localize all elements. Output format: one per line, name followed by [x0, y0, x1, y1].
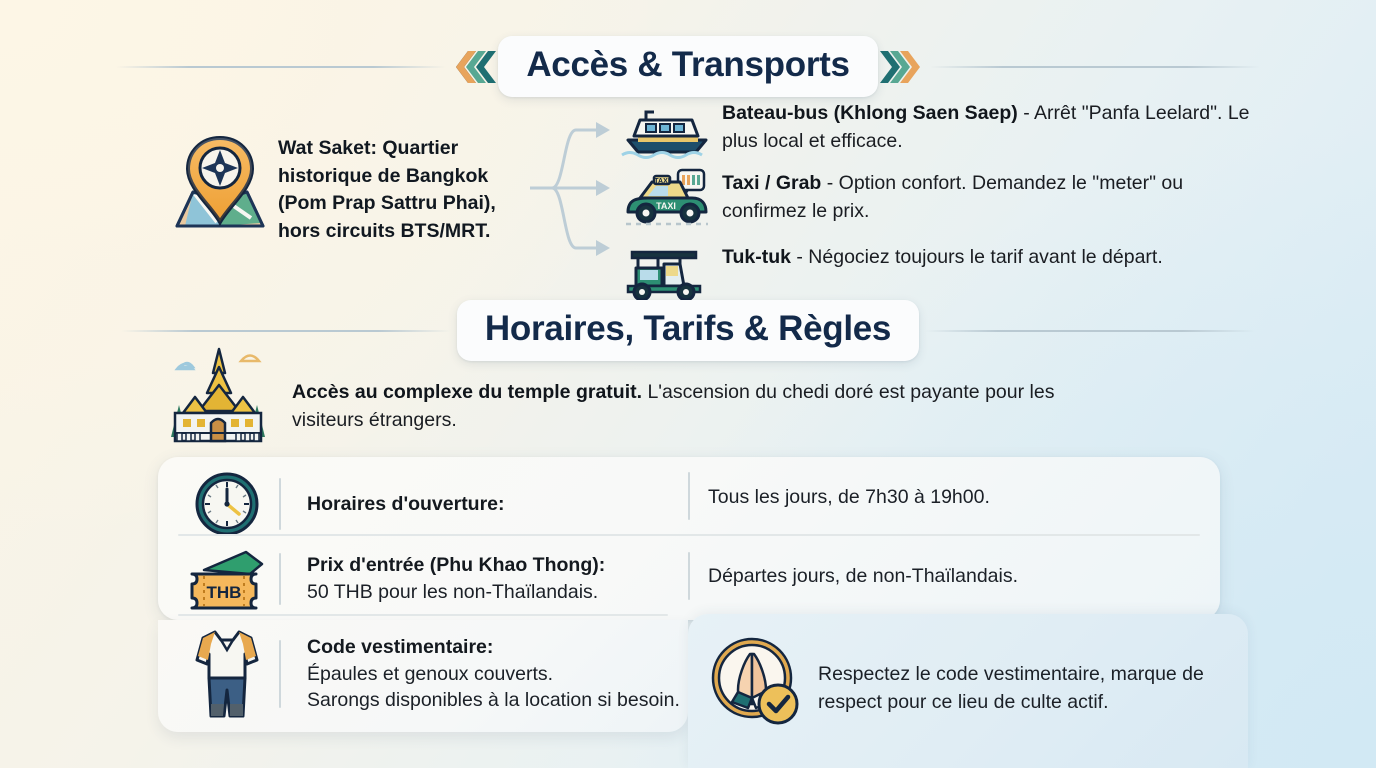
clothing-icon: [175, 626, 279, 722]
info-row-price-value: Départes jours, de non-Thaïlandais.: [708, 563, 1018, 590]
tuktuk-icon: [612, 242, 722, 302]
info-row-hours-label: Horaires d'ouverture:: [307, 491, 505, 518]
row-divider-vertical-2: [279, 553, 281, 605]
section-title-transports-label: Accès & Transports: [526, 45, 849, 84]
section-title-rules-label: Horaires, Tarifs & Règles: [485, 309, 891, 348]
transport-option-tuktuk: Tuk-tuk - Négociez toujours le tarif ava…: [612, 242, 1272, 302]
ticket-icon-label: THB: [207, 583, 242, 602]
chevron-right-decor-icon: [878, 47, 924, 87]
location-description: Wat Saket: Quartier historique de Bangko…: [278, 135, 528, 246]
info-row-dresscode-label-text: Code vestimentaire:: [307, 636, 493, 658]
transport-option-taxi: TAXI TAXI Taxi / Grab - Option confort. …: [612, 168, 1272, 228]
info-row-hours-value: Tous les jours, de 7h30 à 19h00.: [708, 484, 990, 511]
transport-option-tuktuk-text: Tuk-tuk - Négociez toujours le tarif ava…: [722, 242, 1163, 272]
info-row-price-sublabel: 50 THB pour les non-Thaïlandais.: [307, 581, 598, 603]
header-rule-left: [116, 66, 446, 68]
transport-option-boat-bold: Bateau-bus (Khlong Saen Saep): [722, 102, 1018, 124]
info-row-price: THB Prix d'entrée (Phu Khao Thong): 50 T…: [175, 548, 605, 610]
respect-note-text: Respectez le code vestimentaire, marque …: [818, 660, 1238, 717]
info-row-price-label-text: Prix d'entrée (Phu Khao Thong):: [307, 554, 605, 576]
info-row-dresscode-sublabel: Épaules et genoux couverts.: [307, 663, 553, 685]
info-row-dresscode-sublabel2: Sarongs disponibles à la location si bes…: [307, 689, 680, 711]
wai-hands-check-icon: [708, 634, 804, 735]
ticket-thb-icon: THB: [175, 548, 279, 610]
chevron-left-decor-icon: [452, 47, 498, 87]
temple-access-note-bold: Accès au complexe du temple gratuit.: [292, 381, 642, 403]
map-pin-compass-icon: [165, 130, 275, 245]
temple-icon: [155, 345, 280, 450]
transport-option-tuktuk-bold: Tuk-tuk: [722, 246, 791, 268]
temple-access-note: Accès au complexe du temple gratuit. L'a…: [292, 378, 1122, 435]
section-header-transports: Accès & Transports: [0, 36, 1376, 97]
transport-option-taxi-bold: Taxi / Grab: [722, 172, 821, 194]
boat-bus-icon: [612, 100, 722, 160]
svg-text:TAXI: TAXI: [656, 201, 676, 211]
header-rule-right: [930, 66, 1260, 68]
info-row-price-label: Prix d'entrée (Phu Khao Thong): 50 THB p…: [307, 552, 605, 606]
info-row-hours-label-text: Horaires d'ouverture:: [307, 493, 505, 515]
info-row-separator-2: [178, 614, 668, 616]
section-title-rules: Horaires, Tarifs & Règles: [457, 300, 919, 361]
transport-option-boat-text: Bateau-bus (Khlong Saen Saep) - Arrêt "P…: [722, 98, 1272, 155]
header-rule-left-2: [121, 330, 451, 332]
transport-option-taxi-text: Taxi / Grab - Option confort. Demandez l…: [722, 168, 1272, 225]
row-divider-center-2: [688, 552, 690, 600]
info-row-hours: Horaires d'ouverture:: [175, 470, 505, 538]
infographic-page: Accès & Transports: [0, 0, 1376, 768]
transport-option-boat: Bateau-bus (Khlong Saen Saep) - Arrêt "P…: [612, 100, 1272, 160]
header-rule-right-2: [925, 330, 1255, 332]
info-row-separator-1: [178, 534, 1200, 536]
row-divider-vertical-3: [279, 640, 281, 708]
svg-text:TAXI: TAXI: [654, 178, 669, 185]
taxi-icon: TAXI TAXI: [612, 168, 722, 228]
section-title-transports: Accès & Transports: [498, 36, 877, 97]
row-divider-vertical: [279, 478, 281, 530]
info-row-dresscode: Code vestimentaire: Épaules et genoux co…: [175, 626, 680, 722]
info-row-dresscode-label: Code vestimentaire: Épaules et genoux co…: [307, 634, 680, 715]
clock-icon: [175, 470, 279, 538]
row-divider-center-1: [688, 472, 690, 520]
transport-option-tuktuk-rest: - Négociez toujours le tarif avant le dé…: [791, 246, 1163, 268]
transport-options-list: Bateau-bus (Khlong Saen Saep) - Arrêt "P…: [612, 100, 1272, 310]
